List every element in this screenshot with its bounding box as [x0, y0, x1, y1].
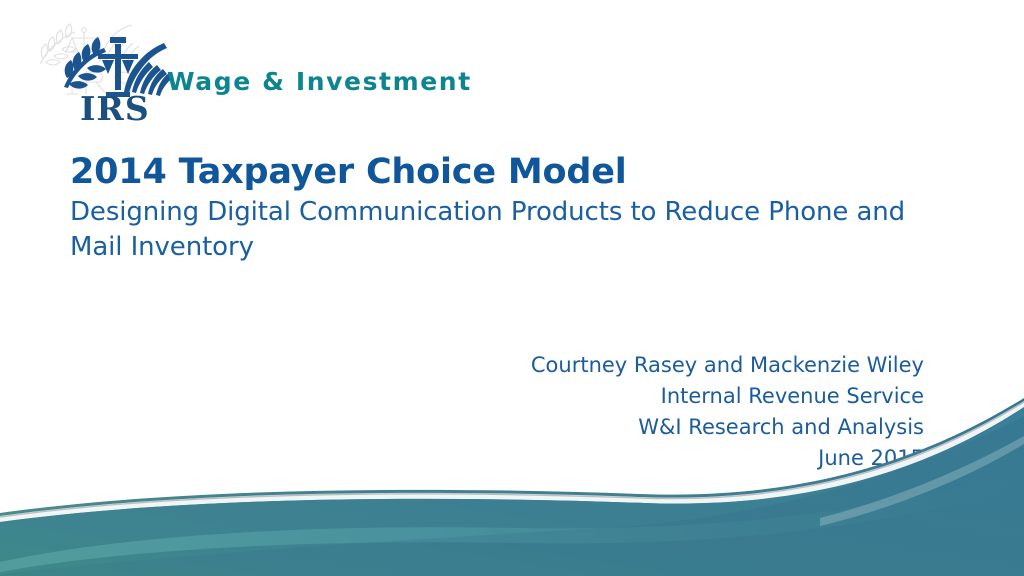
author-line-department: W&I Research and Analysis [531, 412, 924, 443]
irs-logo-block: IRS Wage & Investment [28, 12, 498, 117]
presentation-slide: IRS Wage & Investment 2014 Taxpayer Choi… [0, 0, 1024, 576]
author-line-date: June 2015 [531, 443, 924, 474]
svg-text:IRS: IRS [80, 89, 150, 122]
irs-eagle-scales-emblem-icon: IRS [58, 30, 178, 122]
page-subtitle: Designing Digital Communication Products… [70, 195, 930, 267]
page-title: 2014 Taxpayer Choice Model [70, 152, 940, 193]
title-block: 2014 Taxpayer Choice Model Designing Dig… [70, 152, 940, 266]
author-line-organization: Internal Revenue Service [531, 381, 924, 412]
division-name: Wage & Investment [167, 67, 472, 96]
author-block: Courtney Rasey and Mackenzie Wiley Inter… [531, 350, 924, 474]
author-line-presenters: Courtney Rasey and Mackenzie Wiley [531, 350, 924, 381]
